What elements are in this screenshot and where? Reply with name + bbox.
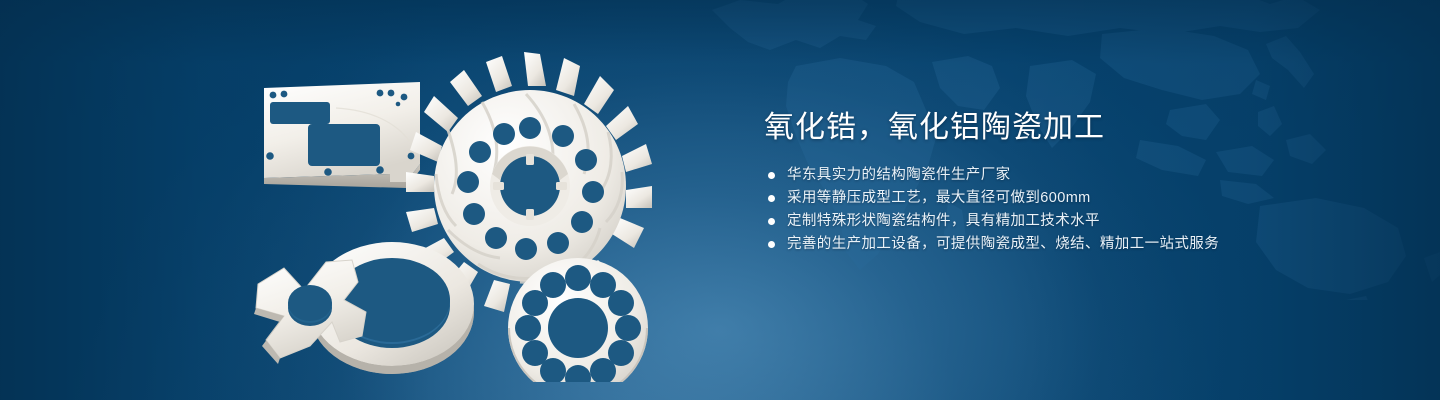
feature-list-item: 完善的生产加工设备，可提供陶瓷成型、烧结、精加工一站式服务 [764,233,1384,256]
feature-list-item-label: 采用等静压成型工艺，最大直径可做到600mm [787,190,1091,206]
bullet-dot-icon [768,241,775,248]
feature-list-item-label: 完善的生产加工设备，可提供陶瓷成型、烧结、精加工一站式服务 [787,236,1219,252]
feature-list: 华东具实力的结构陶瓷件生产厂家 采用等静压成型工艺，最大直径可做到600mm 定… [764,164,1384,256]
feature-list-item: 定制特殊形状陶瓷结构件，具有精加工技术水平 [764,210,1384,233]
product-photo-cluster [240,46,690,382]
banner-text-block: 氧化锆，氧化铝陶瓷加工 华东具实力的结构陶瓷件生产厂家 采用等静压成型工艺，最大… [764,108,1384,256]
product-ceramic-plate [264,82,420,188]
bullet-dot-icon [768,195,775,202]
feature-list-item-label: 华东具实力的结构陶瓷件生产厂家 [787,167,1011,183]
bullet-dot-icon [768,172,775,179]
bullet-dot-icon [768,218,775,225]
page-title: 氧化锆，氧化铝陶瓷加工 [764,108,1384,148]
feature-list-item: 华东具实力的结构陶瓷件生产厂家 [764,164,1384,187]
feature-list-item: 采用等静压成型工艺，最大直径可做到600mm [764,187,1384,210]
feature-list-item-label: 定制特殊形状陶瓷结构件，具有精加工技术水平 [787,213,1100,229]
hero-banner: 氧化锆，氧化铝陶瓷加工 华东具实力的结构陶瓷件生产厂家 采用等静压成型工艺，最大… [0,0,1440,400]
